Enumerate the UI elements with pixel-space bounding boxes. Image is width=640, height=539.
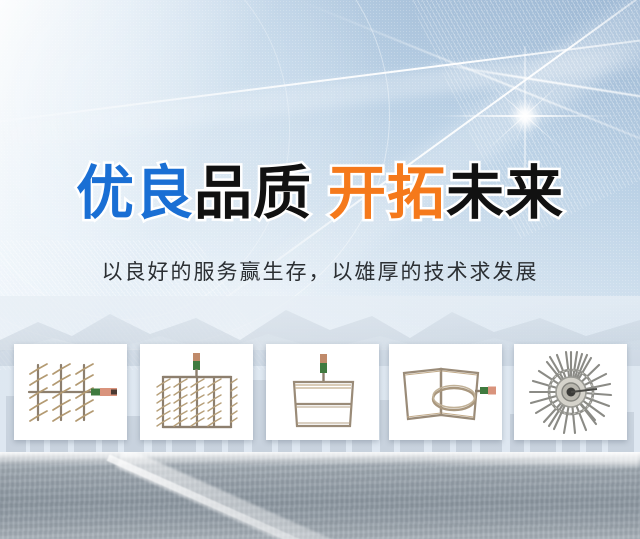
plating-rack-frame-icon [280, 352, 366, 432]
product-card-comb-rack-hanger[interactable] [14, 344, 127, 440]
headline-segment-blue: 优良 [76, 161, 194, 226]
headline-segment-dark-1: 品质 [194, 161, 312, 226]
page-subtitle: 以良好的服务赢生存，以雄厚的技术求发展 [0, 258, 640, 288]
product-card-ring-plate-rack[interactable] [389, 344, 502, 440]
product-card-double-row-spike-rack[interactable] [140, 344, 253, 440]
page-title: 优良品质开拓未来 [0, 160, 640, 228]
hero-banner: 优良品质开拓未来 以良好的服务赢生存，以雄厚的技术求发展 [0, 0, 640, 539]
headline-segment-orange: 开拓 [328, 161, 446, 226]
product-card-radial-sunburst-rack[interactable] [514, 344, 627, 440]
product-card-frame-ladder-rack[interactable] [266, 344, 379, 440]
plating-rack-ring-icon [396, 357, 496, 427]
plating-rack-spike-icon [151, 351, 243, 433]
plating-rack-radial-icon [525, 349, 617, 435]
ground-pavement [0, 452, 640, 539]
headline-segment-dark-2: 未来 [446, 161, 564, 226]
product-card-list [14, 344, 628, 440]
plating-rack-comb-icon [21, 353, 121, 431]
